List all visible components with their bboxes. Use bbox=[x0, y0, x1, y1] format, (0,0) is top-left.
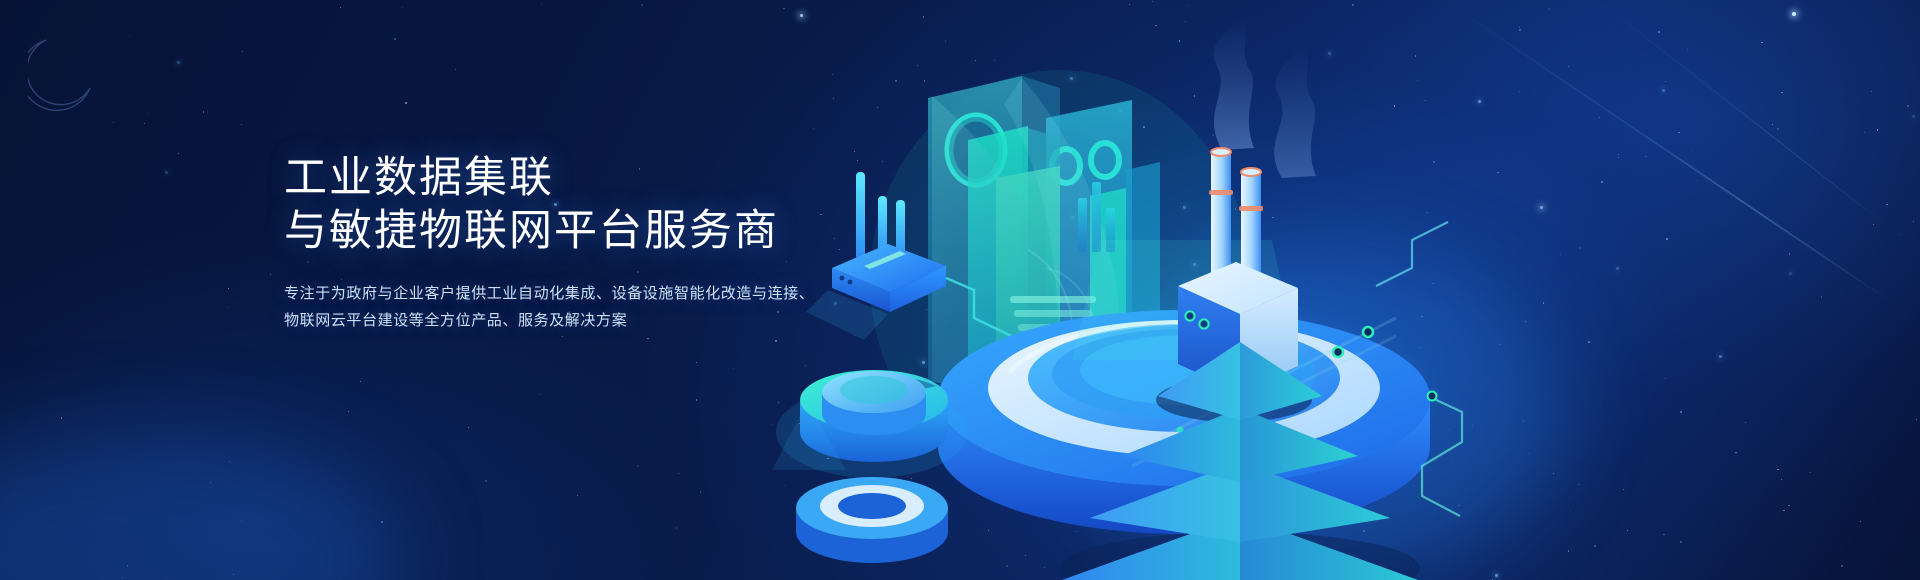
star-dot bbox=[144, 123, 145, 124]
star-dot bbox=[647, 338, 648, 339]
hero-banner: 工业数据集联 与敏捷物联网平台服务商 专注于为政府与企业客户提供工业自动化集成、… bbox=[0, 0, 1920, 580]
star-dot bbox=[381, 521, 383, 523]
star-dot bbox=[676, 527, 677, 528]
ring-base bbox=[796, 477, 948, 563]
star-dot bbox=[577, 495, 578, 496]
star-dot bbox=[678, 473, 679, 474]
subtitle-line-1: 专注于为政府与企业客户提供工业自动化集成、设备设施智能化改造与连接、 bbox=[284, 280, 924, 307]
star-dot bbox=[228, 288, 229, 289]
star-dot bbox=[229, 461, 230, 462]
signal-node-1 bbox=[1363, 327, 1373, 337]
star-dot bbox=[178, 153, 179, 154]
cable-node-pyramid bbox=[1428, 392, 1437, 401]
star-dot bbox=[129, 36, 130, 37]
star-dot bbox=[241, 520, 242, 521]
subtitle-line-2: 物联网云平台建设等全方位产品、服务及解决方案 bbox=[284, 307, 924, 334]
star-dot bbox=[177, 61, 180, 64]
factory-led-2 bbox=[1199, 319, 1208, 328]
star-dot bbox=[696, 399, 697, 400]
hero-illustration bbox=[760, 0, 1920, 580]
hero-copy: 工业数据集联 与敏捷物联网平台服务商 专注于为政府与企业客户提供工业自动化集成、… bbox=[284, 152, 924, 334]
star-dot bbox=[127, 565, 128, 566]
star-dot bbox=[696, 362, 697, 363]
star-dot bbox=[203, 111, 204, 112]
chimney-1-band bbox=[1209, 190, 1233, 195]
star-dot bbox=[242, 51, 243, 52]
star-dot bbox=[348, 411, 349, 412]
star-dot bbox=[468, 427, 469, 428]
chimney-2-band bbox=[1239, 206, 1263, 211]
star-dot bbox=[61, 417, 62, 418]
ring-base-hole bbox=[838, 493, 906, 519]
signal-node-2 bbox=[1333, 347, 1343, 357]
star-dot bbox=[233, 574, 234, 575]
star-dot bbox=[122, 577, 123, 578]
star-dot bbox=[394, 38, 396, 40]
headline-line-1: 工业数据集联 bbox=[284, 154, 554, 202]
star-dot bbox=[641, 4, 643, 6]
star-dot bbox=[733, 368, 734, 369]
star-dot bbox=[700, 491, 701, 492]
smoke-plume-1 bbox=[1214, 18, 1254, 150]
star-dot bbox=[165, 171, 168, 174]
cyl-inner-core bbox=[840, 376, 908, 404]
hero-subtitle: 专注于为政府与企业客户提供工业自动化集成、设备设施智能化改造与连接、 物联网云平… bbox=[284, 280, 924, 334]
factory-led-1 bbox=[1185, 311, 1194, 320]
star-dot bbox=[360, 381, 361, 382]
star-dot bbox=[541, 4, 542, 5]
star-dot bbox=[241, 124, 242, 125]
haze-bottom-left bbox=[0, 430, 400, 580]
star-dot bbox=[210, 482, 211, 483]
headline-line-2: 与敏捷物联网平台服务商 bbox=[284, 205, 924, 258]
star-dot bbox=[405, 102, 407, 104]
star-dot bbox=[227, 307, 228, 308]
star-dot bbox=[113, 122, 114, 123]
cable-hub-to-factory bbox=[1376, 222, 1448, 286]
pie-cylinder-chart bbox=[772, 370, 968, 478]
star-dot bbox=[562, 336, 563, 337]
star-dot bbox=[340, 7, 341, 8]
star-dot bbox=[485, 480, 487, 482]
star-dot bbox=[539, 394, 540, 395]
star-dot bbox=[637, 465, 638, 466]
smoke-plume-2 bbox=[1274, 46, 1316, 178]
page-title: 工业数据集联 与敏捷物联网平台服务商 bbox=[284, 152, 924, 258]
star-dot bbox=[270, 274, 271, 275]
crescent-moon-icon bbox=[28, 34, 108, 114]
star-dot bbox=[148, 113, 149, 114]
star-dot bbox=[455, 69, 456, 70]
star-dot bbox=[402, 7, 403, 8]
